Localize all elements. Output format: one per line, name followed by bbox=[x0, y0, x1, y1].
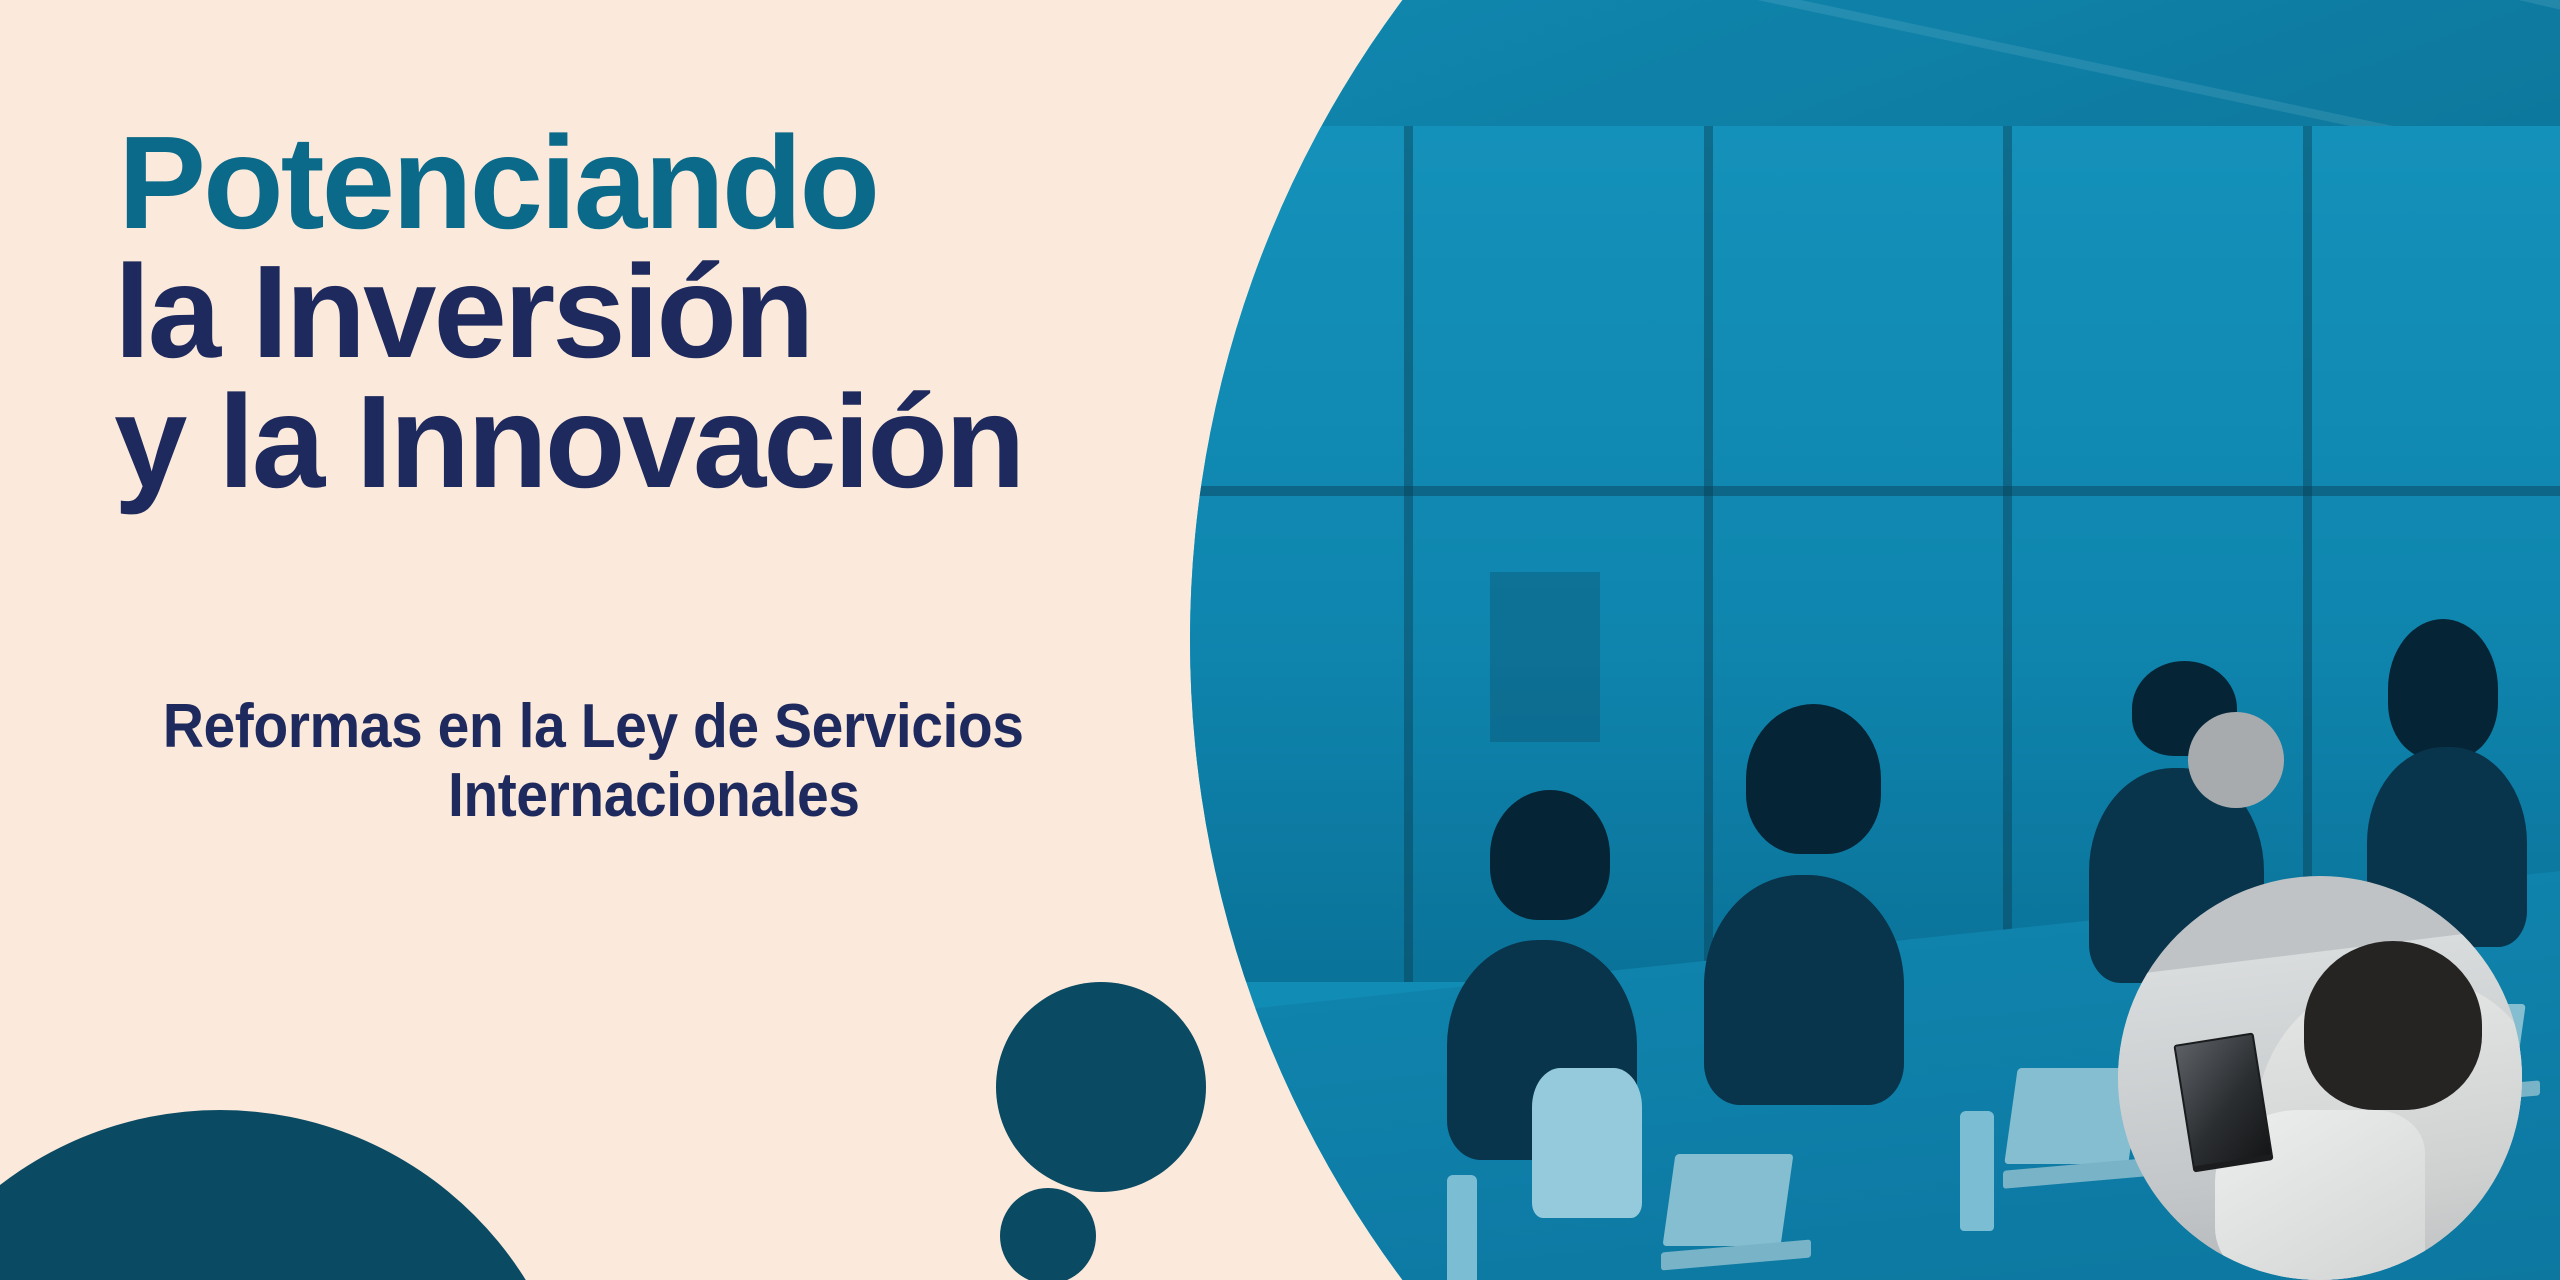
banner-canvas: Potenciando la Inversión y la Innovación… bbox=[0, 0, 2560, 1280]
page-subtitle: Reformas en la Ley de Servicios Internac… bbox=[118, 692, 1238, 831]
decorative-circle-small bbox=[1000, 1188, 1096, 1280]
page-title: Potenciando la Inversión y la Innovación bbox=[118, 118, 1298, 506]
subtitle-line-1: Reformas en la Ley de Servicios bbox=[163, 692, 1193, 761]
headline-line-1: Potenciando bbox=[118, 118, 1298, 247]
headline-line-2: la Inversión bbox=[114, 247, 1298, 376]
headline-line-3: y la Innovación bbox=[114, 377, 1298, 506]
decorative-gray-dot bbox=[2188, 712, 2284, 808]
inset-tablet-screen bbox=[2175, 1034, 2270, 1166]
subtitle-line-2: Internacionales bbox=[163, 761, 1193, 830]
inset-person-hair bbox=[2304, 941, 2482, 1111]
decorative-circle-large bbox=[996, 982, 1206, 1192]
inset-photo-circle bbox=[2118, 876, 2522, 1280]
decorative-circle-bottom-left bbox=[0, 1110, 580, 1280]
